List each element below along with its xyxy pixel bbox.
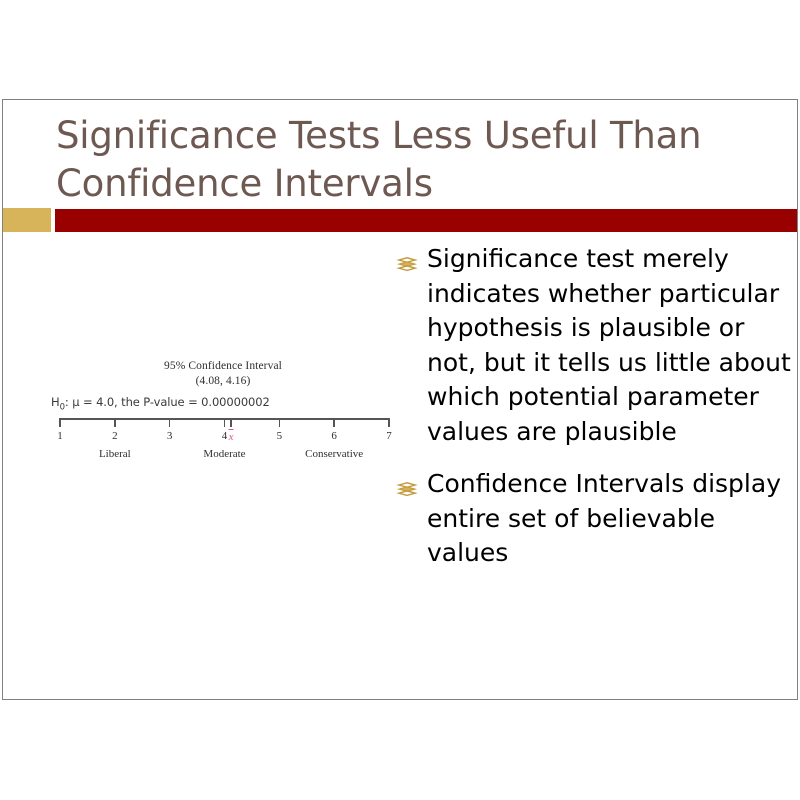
axis-category-label: Moderate [203, 448, 245, 460]
axis-tick [169, 418, 171, 427]
hypothesis-h: H [51, 395, 60, 409]
axis-category-label: Liberal [99, 448, 131, 460]
xbar-label: x [229, 429, 234, 443]
body-text-block: Significance test merely indicates wheth… [395, 242, 795, 589]
page-title: Significance Tests Less Useful Than Conf… [56, 112, 776, 208]
axis-tick [224, 418, 226, 427]
axis-category-label: Conservative [305, 448, 363, 460]
axis-tick-label: 4 [222, 430, 228, 442]
bullet-item: Confidence Intervals display entire set … [395, 467, 795, 571]
axis-tick-label: 6 [331, 430, 337, 442]
accent-bar-gold [3, 208, 51, 232]
accent-bar-red [55, 209, 798, 232]
books-stack-icon [396, 249, 418, 267]
axis-tick-label: 2 [112, 430, 118, 442]
xbar-overline [229, 429, 234, 430]
axis-tick-label: 7 [386, 430, 392, 442]
bullet-item: Significance test merely indicates wheth… [395, 242, 795, 449]
axis-tick-label: 1 [57, 430, 63, 442]
number-line-axis: 1234567 LiberalModerateConservative x [43, 418, 403, 478]
axis-tick-label: 3 [167, 430, 173, 442]
axis-tick [279, 418, 281, 427]
axis-tick [59, 418, 61, 427]
confidence-interval-figure: 95% Confidence Interval (4.08, 4.16) H0:… [43, 355, 403, 485]
axis-tick [114, 418, 116, 427]
figure-caption-line1: 95% Confidence Interval [43, 360, 403, 372]
bullet-text: Significance test merely indicates wheth… [427, 242, 795, 449]
figure-hypothesis-text: H0: μ = 4.0, the P-value = 0.00000002 [51, 395, 270, 412]
xbar-letter: x [229, 431, 234, 443]
axis-tick [333, 418, 335, 427]
bullet-text: Confidence Intervals display entire set … [427, 467, 795, 571]
axis-tick [388, 418, 390, 427]
xbar-tick-mark [230, 418, 232, 427]
books-stack-icon [396, 474, 418, 492]
slide: Significance Tests Less Useful Than Conf… [2, 99, 798, 700]
hypothesis-rest: : μ = 4.0, the P-value = 0.00000002 [65, 395, 270, 409]
axis-tick-label: 5 [277, 430, 283, 442]
figure-caption-line2: (4.08, 4.16) [43, 375, 403, 387]
